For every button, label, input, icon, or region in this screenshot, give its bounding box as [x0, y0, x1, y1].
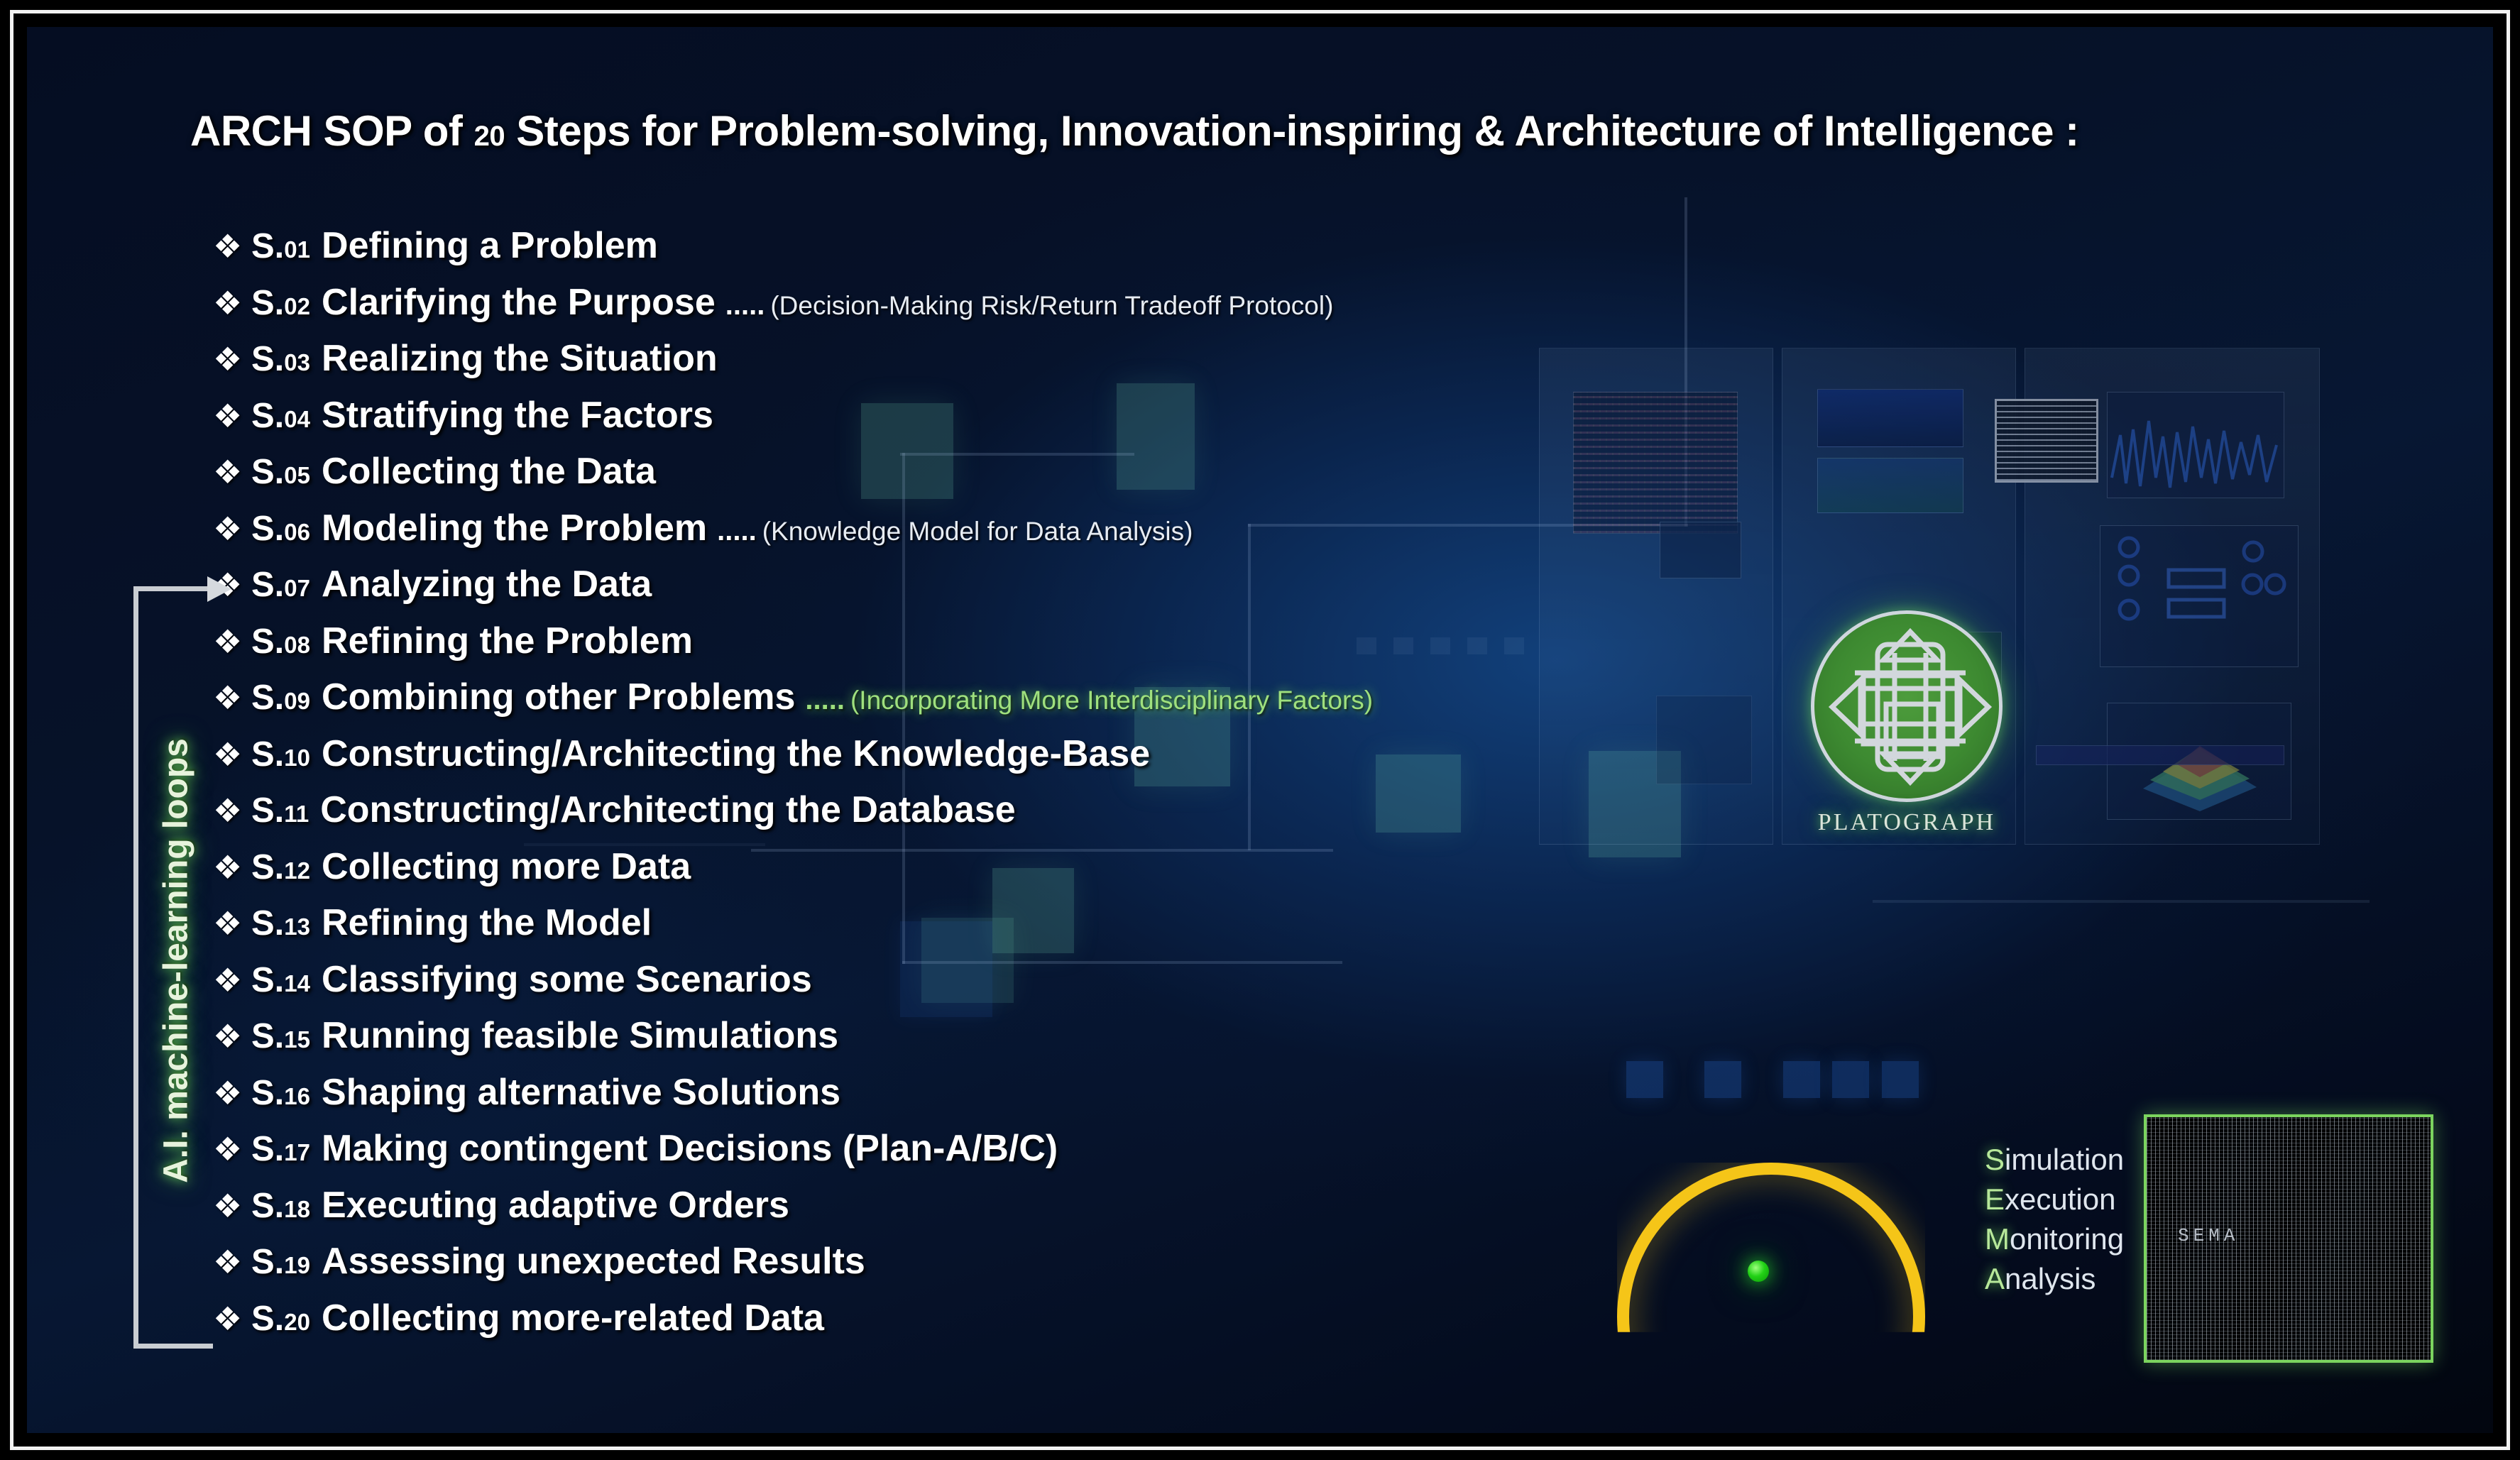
- step-code: S.13: [251, 904, 310, 943]
- step-code-index: 04: [284, 406, 310, 432]
- step-label: Running feasible Simulations: [322, 1014, 838, 1057]
- step-label: Collecting more-related Data: [322, 1297, 824, 1339]
- sop-step-item: ❖S.19Assessing unexpected Results: [213, 1240, 2201, 1297]
- step-code-prefix: S.: [251, 791, 284, 830]
- step-code-index: 02: [284, 293, 310, 319]
- machine-learning-loop-bracket: A.I. machine-learning loops: [133, 586, 226, 1349]
- step-code-prefix: S.: [251, 1187, 284, 1225]
- step-note: (Incorporating More Interdisciplinary Fa…: [850, 686, 1373, 715]
- sop-step-item: ❖S.12Collecting more Data: [213, 845, 2201, 902]
- step-label: Constructing/Architecting the Database: [320, 789, 1015, 831]
- step-code: S.20: [251, 1299, 310, 1339]
- step-label: Realizing the Situation: [322, 337, 718, 380]
- step-note: (Decision-Making Risk/Return Tradeoff Pr…: [770, 291, 1333, 321]
- step-code-index: 11: [284, 801, 309, 827]
- title-suffix: Steps for Problem-solving, Innovation-in…: [505, 107, 2079, 155]
- step-code: S.01: [251, 226, 310, 266]
- sop-step-item: ❖S.07Analyzing the Data: [213, 563, 2201, 620]
- step-code: S.12: [251, 847, 310, 887]
- step-code-prefix: S.: [251, 1300, 284, 1338]
- step-note-leader: .....: [717, 515, 757, 547]
- step-code-prefix: S.: [251, 848, 284, 887]
- step-code-index: 05: [284, 462, 310, 488]
- step-code: S.10: [251, 735, 310, 774]
- sop-step-item: ❖S.13Refining the Model: [213, 901, 2201, 958]
- diamond-bullet-icon: ❖: [213, 400, 251, 432]
- bracket-bottom-line: [133, 1344, 213, 1349]
- step-code-index: 06: [284, 519, 310, 545]
- bracket-vertical-line: [133, 586, 138, 1349]
- step-label: Refining the Problem: [322, 620, 693, 662]
- arrow-right-icon: [207, 576, 231, 602]
- sop-step-item: ❖S.20Collecting more-related Data: [213, 1297, 2201, 1354]
- sop-step-item: ❖S.15Running feasible Simulations: [213, 1014, 2201, 1071]
- step-code-index: 14: [284, 970, 310, 997]
- diamond-bullet-icon: ❖: [213, 343, 251, 375]
- loop-label: A.I. machine-learning loops: [157, 585, 196, 1337]
- diamond-bullet-icon: ❖: [213, 287, 251, 319]
- step-code: S.04: [251, 396, 310, 436]
- step-code: S.18: [251, 1186, 310, 1226]
- step-label: Stratifying the Factors: [322, 394, 713, 437]
- step-label: Classifying some Scenarios: [322, 958, 812, 1001]
- step-code-index: 19: [284, 1252, 310, 1278]
- step-label: Collecting more Data: [322, 845, 691, 888]
- step-code-index: 20: [284, 1309, 310, 1335]
- step-code: S.11: [251, 791, 309, 830]
- step-code-index: 15: [284, 1026, 310, 1053]
- step-label: Defining a Problem: [322, 224, 658, 267]
- sop-step-item: ❖S.04Stratifying the Factors: [213, 394, 2201, 451]
- step-code-prefix: S.: [251, 510, 284, 548]
- title-step-count: 20: [474, 121, 505, 152]
- step-code-index: 17: [284, 1139, 310, 1165]
- sop-step-item: ❖S.03Realizing the Situation: [213, 337, 2201, 394]
- step-code: S.07: [251, 565, 310, 605]
- step-code-prefix: S.: [251, 622, 284, 661]
- page-title: ARCH SOP of 20 Steps for Problem-solving…: [190, 106, 2079, 155]
- sop-step-item: ❖S.01Defining a Problem: [213, 224, 2201, 281]
- slide-root: PLATOGRAPH SEMA Simulation Execution Mon…: [0, 0, 2520, 1460]
- slide-canvas: PLATOGRAPH SEMA Simulation Execution Mon…: [27, 27, 2493, 1433]
- step-label: Modeling the Problem: [322, 507, 707, 549]
- step-code: S.08: [251, 622, 310, 662]
- step-code-prefix: S.: [251, 453, 284, 491]
- step-code: S.05: [251, 452, 310, 492]
- diamond-bullet-icon: ❖: [213, 512, 251, 545]
- step-code-index: 09: [284, 688, 310, 714]
- step-label: Making contingent Decisions (Plan-A/B/C): [322, 1127, 1058, 1170]
- diamond-bullet-icon: ❖: [213, 230, 251, 263]
- step-code-prefix: S.: [251, 340, 284, 378]
- step-code-prefix: S.: [251, 904, 284, 943]
- sop-step-item: ❖S.18Executing adaptive Orders: [213, 1184, 2201, 1241]
- sop-step-item: ❖S.02Clarifying the Purpose.....(Decisio…: [213, 281, 2201, 338]
- sop-step-item: ❖S.10Constructing/Architecting the Knowl…: [213, 732, 2201, 789]
- step-code-prefix: S.: [251, 1017, 284, 1055]
- step-code-prefix: S.: [251, 566, 284, 604]
- step-label: Analyzing the Data: [322, 563, 652, 605]
- step-code-prefix: S.: [251, 284, 284, 322]
- diamond-bullet-icon: ❖: [213, 456, 251, 488]
- step-label: Shaping alternative Solutions: [322, 1071, 840, 1114]
- step-code: S.19: [251, 1242, 310, 1282]
- sop-step-item: ❖S.11Constructing/Architecting the Datab…: [213, 789, 2201, 845]
- step-note-leader: .....: [805, 684, 845, 716]
- step-code: S.02: [251, 283, 310, 323]
- step-code: S.06: [251, 509, 310, 549]
- sop-step-item: ❖S.06Modeling the Problem.....(Knowledge…: [213, 507, 2201, 564]
- title-prefix: ARCH SOP of: [190, 107, 474, 155]
- step-code-prefix: S.: [251, 397, 284, 435]
- step-code-prefix: S.: [251, 1130, 284, 1168]
- step-note-leader: .....: [725, 290, 765, 322]
- step-code-prefix: S.: [251, 961, 284, 999]
- step-note: (Knowledge Model for Data Analysis): [762, 517, 1193, 547]
- step-code-index: 13: [284, 913, 310, 940]
- step-label: Clarifying the Purpose: [322, 281, 716, 324]
- sop-step-item: ❖S.16Shaping alternative Solutions: [213, 1071, 2201, 1128]
- step-code-index: 10: [284, 745, 310, 771]
- step-label: Executing adaptive Orders: [322, 1184, 789, 1226]
- step-code-index: 08: [284, 632, 310, 658]
- step-code-index: 16: [284, 1083, 310, 1109]
- step-code-index: 12: [284, 857, 310, 884]
- step-code-index: 18: [284, 1196, 310, 1222]
- sop-step-item: ❖S.17Making contingent Decisions (Plan-A…: [213, 1127, 2201, 1184]
- step-code: S.14: [251, 960, 310, 1000]
- sop-step-item: ❖S.09Combining other Problems.....(Incor…: [213, 676, 2201, 732]
- sop-step-item: ❖S.08Refining the Problem: [213, 620, 2201, 676]
- step-code: S.16: [251, 1073, 310, 1113]
- step-code-prefix: S.: [251, 679, 284, 717]
- sop-step-item: ❖S.14Classifying some Scenarios: [213, 958, 2201, 1015]
- step-code-prefix: S.: [251, 227, 284, 265]
- step-code-index: 03: [284, 349, 310, 375]
- step-code-prefix: S.: [251, 1243, 284, 1281]
- sop-step-item: ❖S.05Collecting the Data: [213, 450, 2201, 507]
- step-label: Refining the Model: [322, 901, 652, 944]
- step-code: S.17: [251, 1129, 310, 1169]
- step-code-prefix: S.: [251, 1074, 284, 1112]
- step-code: S.03: [251, 339, 310, 379]
- step-label: Collecting the Data: [322, 450, 656, 493]
- step-code: S.15: [251, 1016, 310, 1056]
- step-label: Combining other Problems: [322, 676, 795, 718]
- step-label: Constructing/Architecting the Knowledge-…: [322, 732, 1150, 775]
- step-code-index: 01: [284, 236, 310, 263]
- step-code: S.09: [251, 678, 310, 718]
- step-label: Assessing unexpected Results: [322, 1240, 865, 1283]
- step-code-index: 07: [284, 575, 310, 601]
- sop-step-list: ❖S.01Defining a Problem❖S.02Clarifying t…: [213, 224, 2201, 1353]
- step-code-prefix: S.: [251, 735, 284, 774]
